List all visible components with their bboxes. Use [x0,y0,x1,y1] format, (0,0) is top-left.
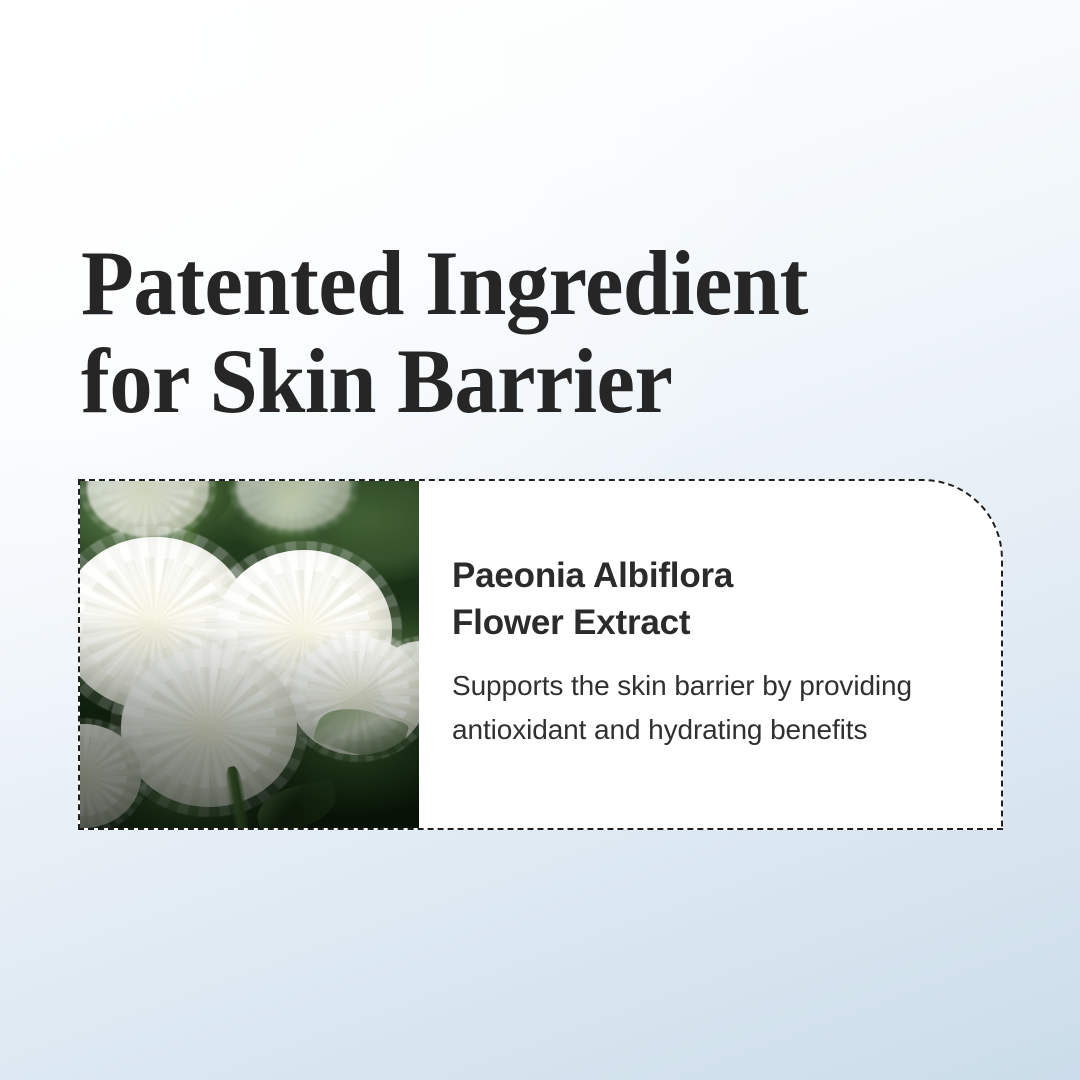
peony-bloom [80,724,141,828]
peony-bloom [236,481,351,530]
ingredient-details: Paeonia Albiflora Flower Extract Support… [419,481,1001,828]
flower-photo-icon [80,481,419,828]
ingredient-description: Supports the skin barrier by providing a… [452,664,1001,751]
ingredient-card: Paeonia Albiflora Flower Extract Support… [78,479,1003,830]
ingredient-photo [80,481,419,828]
promo-page: Patented Ingredient for Skin Barrier [0,0,1080,1080]
ingredient-name: Paeonia Albiflora Flower Extract [452,553,1001,646]
page-title: Patented Ingredient for Skin Barrier [81,234,908,431]
